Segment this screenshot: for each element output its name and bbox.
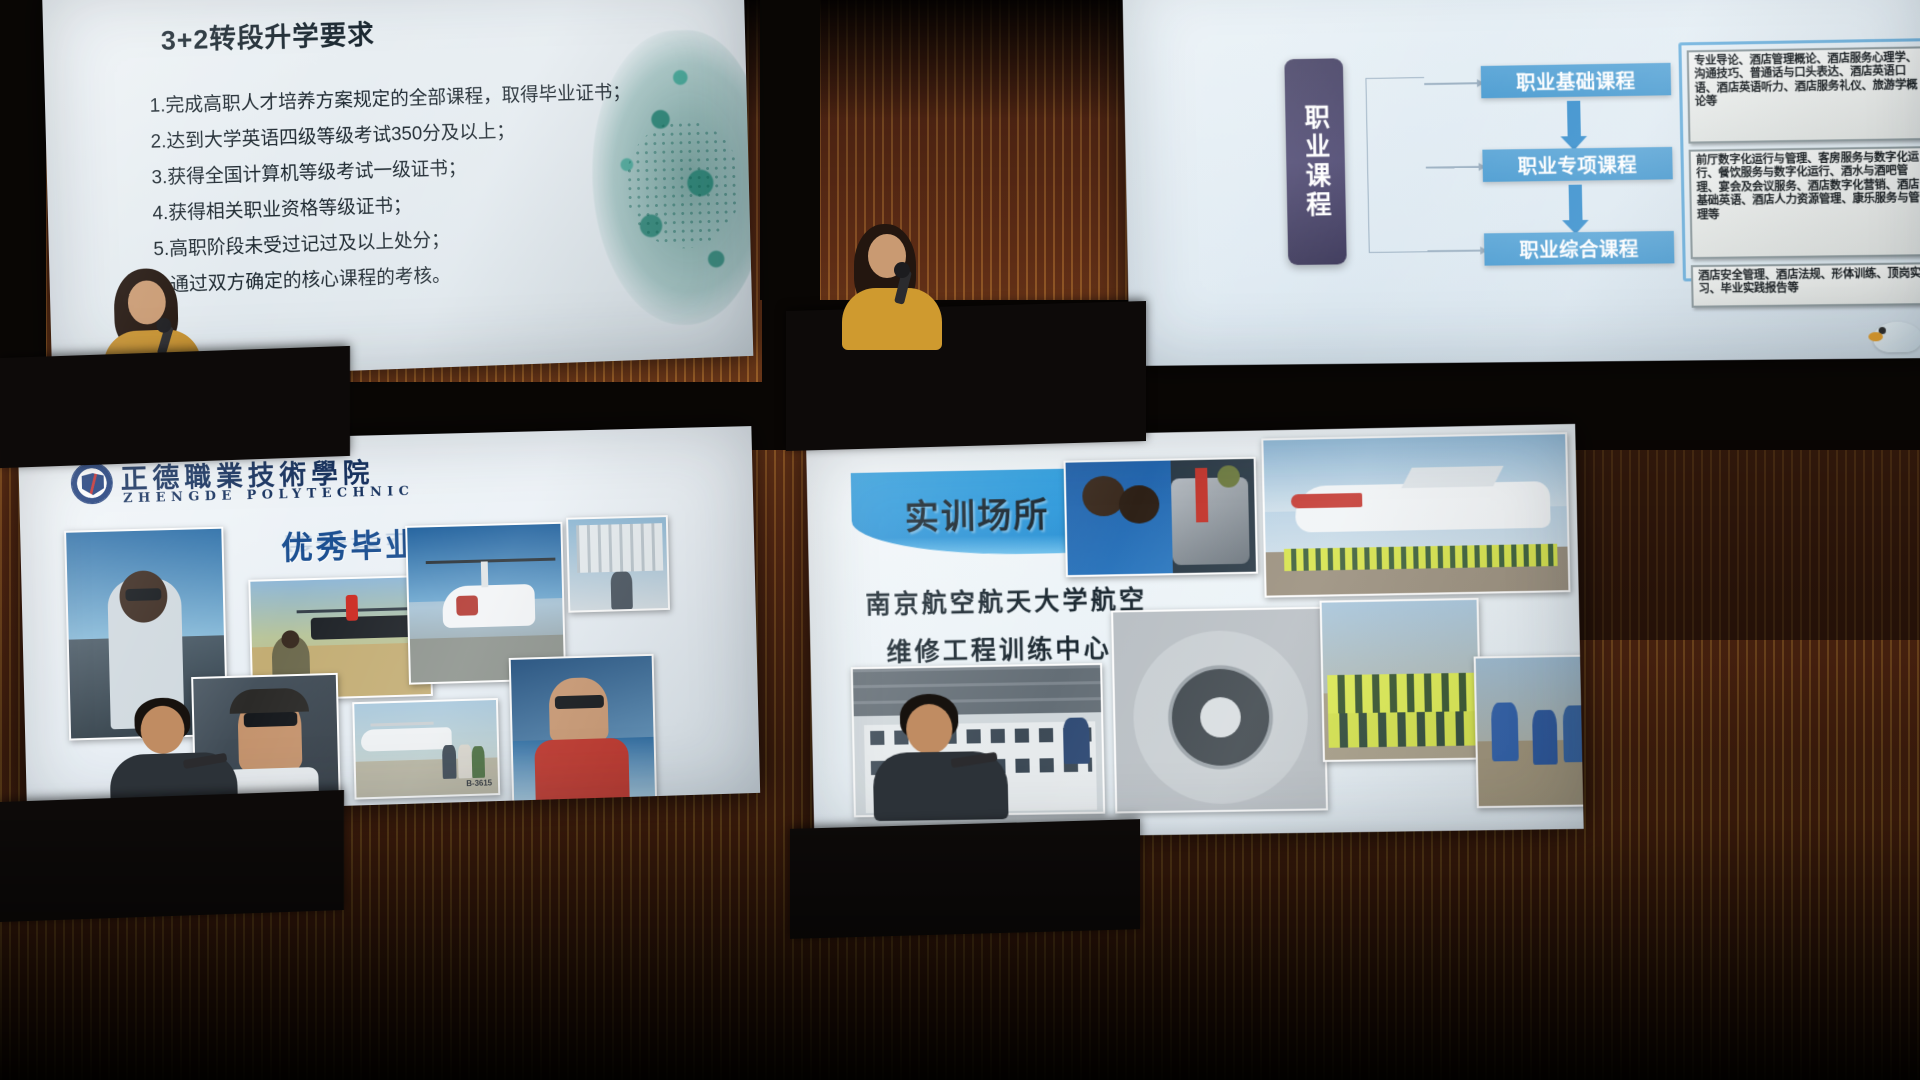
arrow-down-icon — [1569, 185, 1583, 222]
detail-text: 酒店安全管理、酒店法规、形体训练、顶岗实习、毕业实践报告等 — [1698, 267, 1920, 297]
arrow-right-icon — [1427, 249, 1486, 251]
banner-text: 实训场所 — [904, 487, 1050, 539]
detail-text: 前厅数字化运行与管理、客房服务与数字化运行、餐饮服务与数字化运行、酒水与酒吧管理… — [1696, 151, 1920, 222]
stage-label: 职业综合课程 — [1519, 234, 1639, 263]
table-front-top-left — [0, 346, 350, 468]
slide2-title: - 课 程 设 置 - — [1190, 0, 1904, 3]
list-item: 2.达到大学英语四级等级考试350分及以上； — [150, 115, 746, 152]
center-dark-gap — [760, 0, 820, 300]
slide-top-left[interactable]: 3+2转段升学要求 1.完成高职人才培养方案规定的全部课程，取得毕业证书； 2.… — [42, 0, 753, 382]
mascot-icon — [1873, 321, 1920, 352]
slide1-requirement-list: 1.完成高职人才培养方案规定的全部课程，取得毕业证书； 2.达到大学英语四级等级… — [149, 79, 750, 312]
detail-text: 专业导论、酒店管理概论、酒店服务心理学、沟通技巧、普通话与口头表达、酒店英语口语… — [1694, 51, 1920, 109]
photo-red-jacket-graduate — [509, 654, 657, 803]
photo-aircraft-apron — [1261, 432, 1570, 598]
bracket-connector — [1365, 77, 1427, 253]
detail-box-basic: 专业导论、酒店管理概论、酒店服务心理学、沟通技巧、普通话与口头表达、酒店英语口语… — [1687, 46, 1920, 143]
stage-bar-special[interactable]: 职业专项课程 — [1482, 147, 1672, 182]
photo-students-hivis — [1320, 598, 1482, 762]
detail-box-special: 前厅数字化运行与管理、客房服务与数字化运行、餐饮服务与数字化运行、酒水与酒吧管理… — [1689, 146, 1920, 259]
arrow-down-icon — [1567, 101, 1581, 138]
stage-label: 职业专项课程 — [1517, 150, 1637, 179]
list-item: 4.获得相关职业资格等级证书； — [152, 185, 748, 223]
slide1-title: 3+2转段升学要求 — [160, 13, 375, 58]
arrow-right-icon — [1424, 82, 1483, 84]
arrow-right-icon — [1426, 166, 1485, 168]
presenter-silhouette-tr — [840, 224, 950, 342]
slide4-line-1: 南京航空航天大学航空 — [865, 580, 1147, 621]
list-item: 1.完成高职人才培养方案规定的全部课程，取得毕业证书； — [149, 79, 745, 115]
aircraft-registration: B-3615 — [466, 778, 492, 788]
list-item: 6.通过双方确定的核心课程的考核。 — [154, 256, 750, 295]
right-dark-band — [1566, 440, 1920, 640]
list-item: 5.高职阶段未受过记过及以上处分； — [153, 221, 749, 260]
detail-box-comprehensive: 酒店安全管理、酒店法规、形体训练、顶岗实习、毕业实践报告等 — [1691, 262, 1920, 308]
pillar-text: 职业课程 — [1302, 103, 1329, 220]
photo-students-aircraft: B-3615 — [352, 698, 500, 800]
slide-bottom-right[interactable]: 实训场所 南京航空航天大学航空 维修工程训练中心 — [806, 424, 1584, 840]
stage-bar-basic[interactable]: 职业基础课程 — [1481, 63, 1671, 98]
scene-root: 3+2转段升学要求 1.完成高职人才培养方案规定的全部课程，取得毕业证书； 2.… — [0, 0, 1920, 1080]
slide2-pillar-label: 职业课程 — [1284, 58, 1346, 265]
stage-bar-comprehensive[interactable]: 职业综合课程 — [1484, 231, 1674, 266]
floor-shadow — [0, 820, 1920, 1080]
slide-bottom-left[interactable]: 正德職業技術學院 ZHENGDE POLYTECHNIC 优秀毕业生 优秀毕业生 — [18, 426, 760, 816]
photo-hangar-building — [566, 515, 670, 613]
photo-engine-technicians — [1063, 457, 1258, 577]
university-logo-icon — [70, 462, 113, 505]
list-item: 3.获得全国计算机等级考试一级证书； — [151, 150, 747, 188]
slide-top-right[interactable]: - 课 程 设 置 - 职业课程 职业基础课程 职业专项课程 职业综合课程 — [1122, 0, 1920, 366]
presenter-silhouette — [871, 693, 1014, 819]
stage-label: 职业基础课程 — [1516, 66, 1636, 95]
photo-jet-engine — [1111, 607, 1328, 814]
photo-outdoor-training — [1474, 654, 1584, 808]
